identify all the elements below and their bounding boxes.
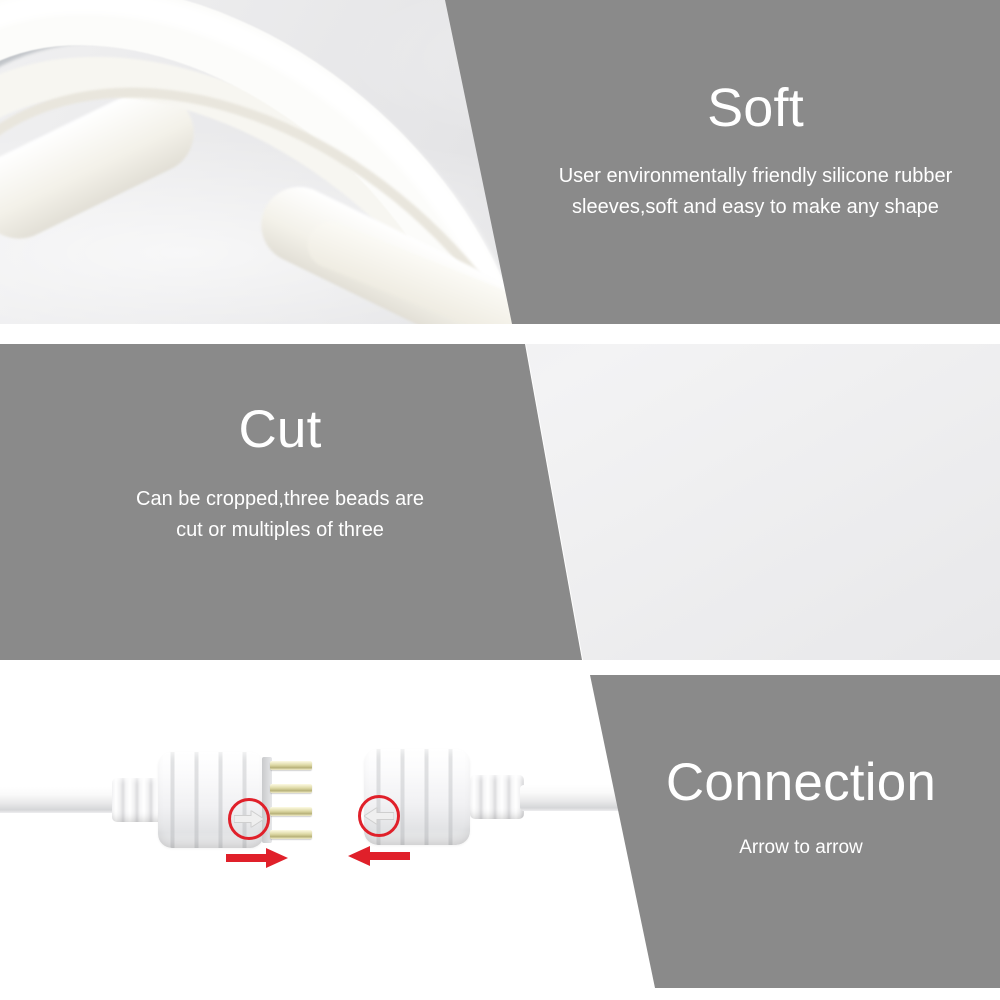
connector-pin bbox=[270, 830, 312, 839]
connector-pin bbox=[270, 761, 312, 770]
text-block-cut: Cut Can be cropped,three beads are cut o… bbox=[55, 402, 505, 547]
panel-subtitle-cut: Can be cropped,three beads are cut or mu… bbox=[55, 484, 505, 547]
panel-title-connection: Connection bbox=[605, 755, 997, 811]
direction-arrow-left-icon bbox=[348, 845, 410, 867]
panel-subtitle-cut-line-1: Can be cropped,three beads are bbox=[55, 484, 505, 516]
arrow-right-icon bbox=[234, 811, 264, 828]
connector-pin bbox=[270, 784, 312, 793]
text-block-connection: Connection Arrow to arrow bbox=[605, 755, 997, 863]
strain-relief-right bbox=[470, 775, 524, 819]
panel-soft: Soft User environmentally friendly silic… bbox=[0, 0, 1000, 324]
arrow-marker-highlight-circle-right bbox=[358, 795, 400, 837]
text-block-soft: Soft User environmentally friendly silic… bbox=[513, 80, 998, 224]
arrow-left-icon bbox=[364, 808, 394, 825]
panel-subtitle-connection: Arrow to arrow bbox=[605, 833, 997, 863]
direction-arrow-right-icon bbox=[226, 847, 288, 869]
panel-subtitle-connection-line-1: Arrow to arrow bbox=[605, 833, 997, 863]
panel-title-cut: Cut bbox=[55, 402, 505, 458]
arrow-marker-highlight-circle-left bbox=[228, 798, 270, 840]
panel-cut: Cut Can be cropped,three beads are cut o… bbox=[0, 344, 1000, 660]
panel-title-soft: Soft bbox=[513, 80, 998, 137]
panel-subtitle-soft-line-1: User environmentally friendly silicone r… bbox=[513, 161, 998, 193]
infographic-sheet: Soft User environmentally friendly silic… bbox=[0, 0, 1000, 1000]
panel-connection: Connection Arrow to arrow bbox=[0, 675, 1000, 988]
connector-pin bbox=[270, 807, 312, 816]
strain-relief-left bbox=[112, 778, 164, 822]
panel-subtitle-cut-line-2: cut or multiples of three bbox=[55, 515, 505, 547]
panel-subtitle-soft: User environmentally friendly silicone r… bbox=[513, 161, 998, 224]
cable-left bbox=[0, 787, 118, 813]
panel-subtitle-soft-line-2: sleeves,soft and easy to make any shape bbox=[513, 192, 998, 224]
